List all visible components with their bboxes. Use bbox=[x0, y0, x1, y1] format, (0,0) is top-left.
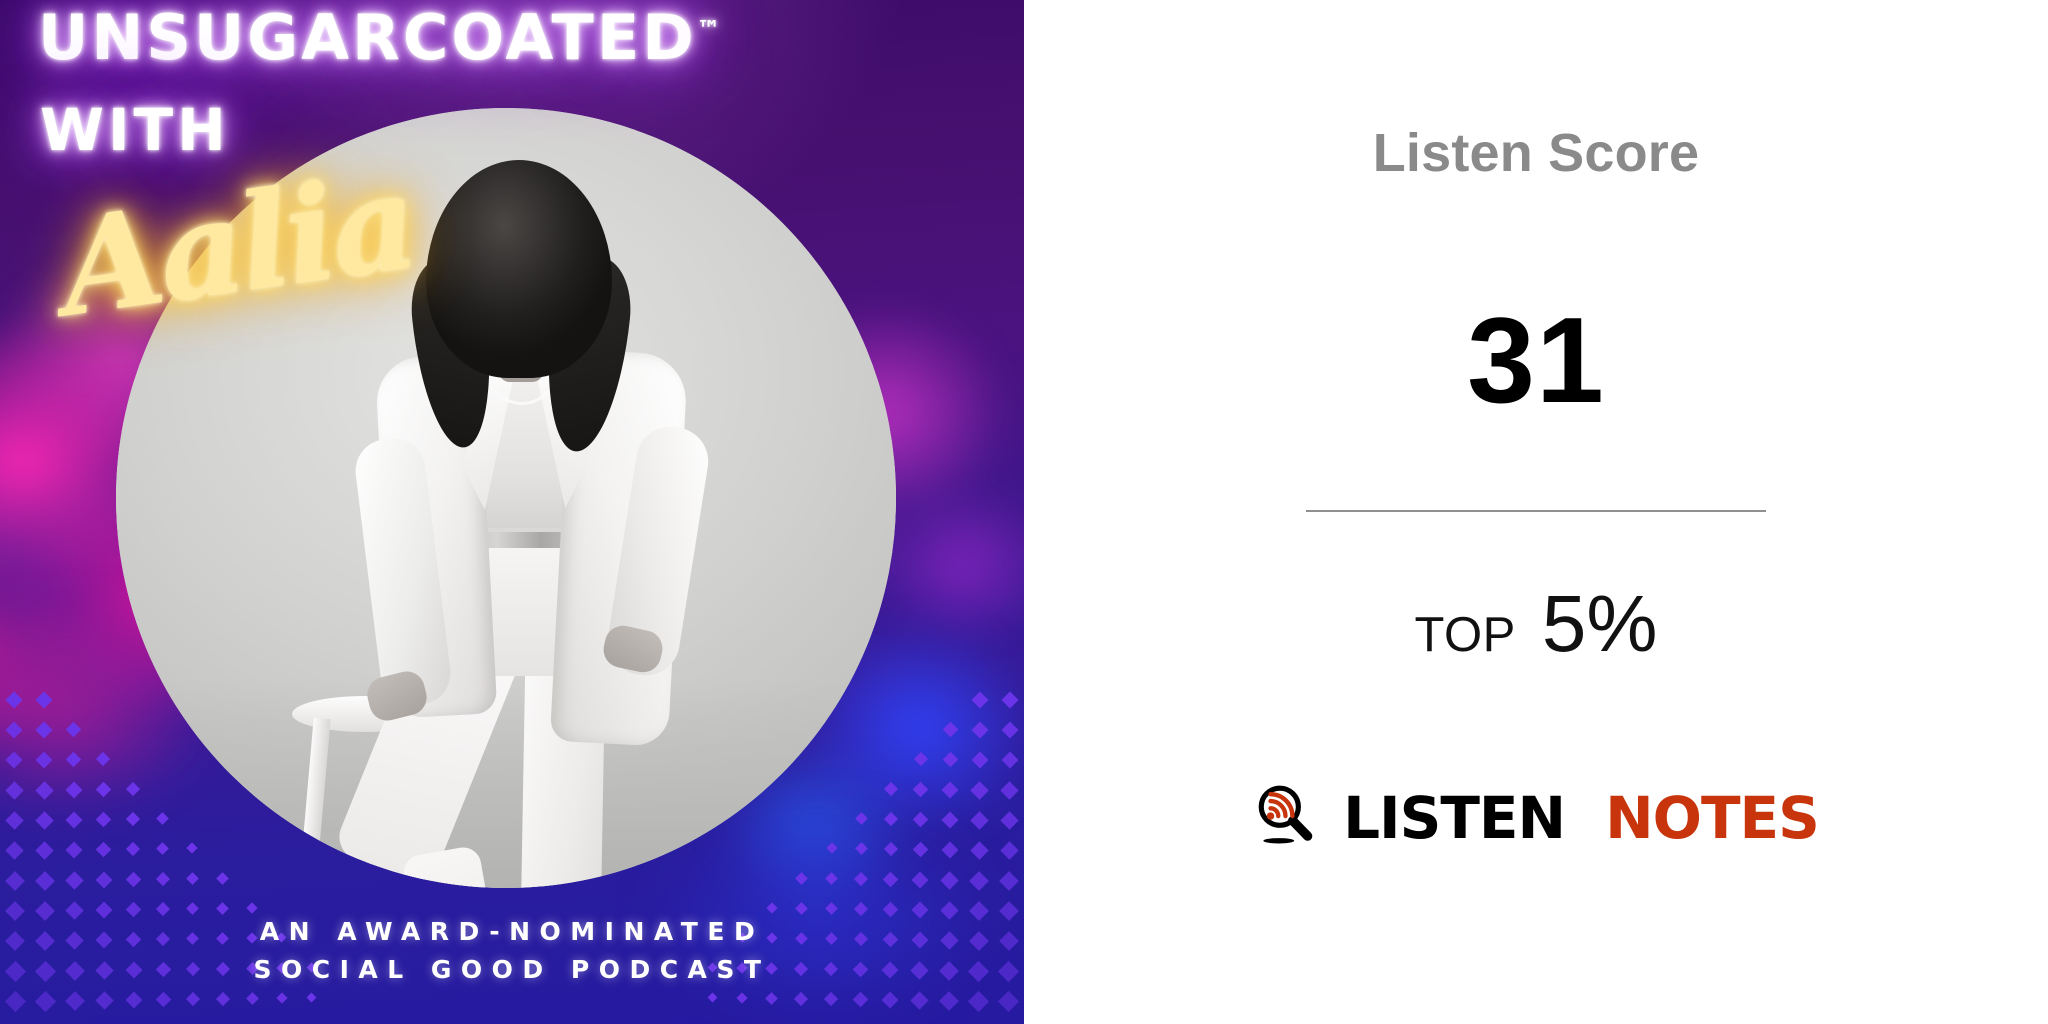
cover-with-word: WITH bbox=[40, 96, 230, 164]
podcast-cover-art[interactable]: UNSUGARCOATED™ WITH Aalia AN AWARD-NOMIN… bbox=[0, 0, 1024, 1024]
rank-prefix-label: TOP bbox=[1415, 607, 1516, 663]
rank-row: TOP 5% bbox=[1024, 578, 2048, 670]
cover-tagline-line-2: SOCIAL GOOD PODCAST bbox=[0, 951, 1024, 990]
magnifier-rss-icon bbox=[1253, 782, 1319, 853]
cover-title-text: UNSUGARCOATED bbox=[38, 1, 697, 74]
listen-notes-word-listen: LISTEN bbox=[1343, 789, 1565, 847]
listen-notes-logo[interactable]: LISTEN NOTES bbox=[1024, 782, 2048, 853]
listen-notes-word-notes: NOTES bbox=[1605, 789, 1819, 847]
score-divider bbox=[1306, 510, 1766, 512]
studio-floor bbox=[116, 678, 896, 888]
listen-score-panel: Listen Score 31 TOP 5% bbox=[1024, 0, 2048, 1024]
rank-percentile-value: 5% bbox=[1542, 578, 1658, 670]
cover-title: UNSUGARCOATED™ bbox=[38, 8, 721, 68]
listen-score-value: 31 bbox=[1024, 290, 2048, 430]
trademark-symbol: ™ bbox=[697, 15, 721, 43]
cover-tagline-line-1: AN AWARD-NOMINATED bbox=[0, 913, 1024, 952]
cover-tagline: AN AWARD-NOMINATED SOCIAL GOOD PODCAST bbox=[0, 913, 1024, 991]
listen-score-label: Listen Score bbox=[1024, 122, 2048, 184]
listen-score-card: UNSUGARCOATED™ WITH Aalia AN AWARD-NOMIN… bbox=[0, 0, 2048, 1024]
